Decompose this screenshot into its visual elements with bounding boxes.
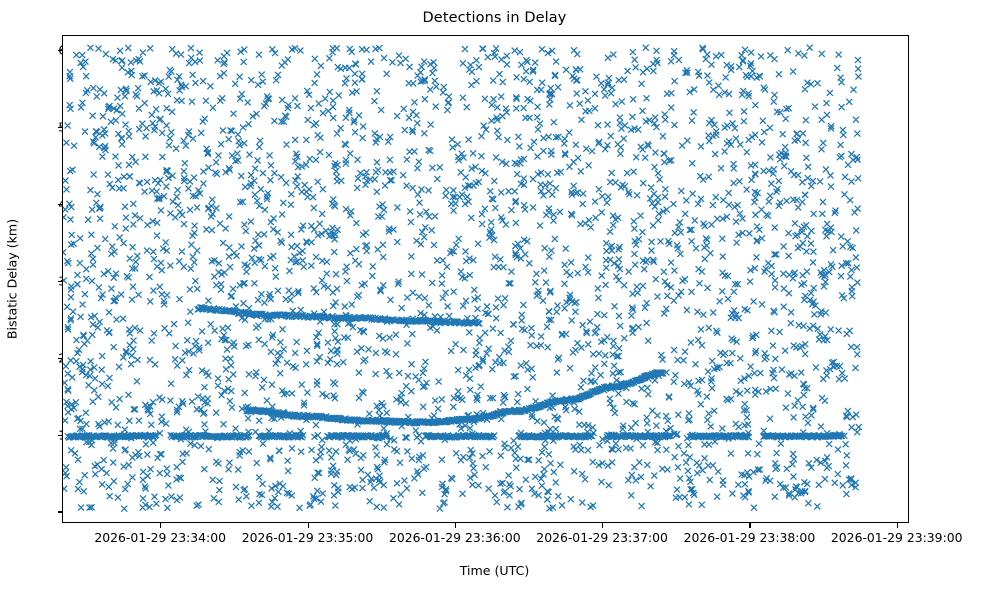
y-axis-tick-mark: [58, 435, 63, 436]
x-axis-tick-mark: [749, 523, 750, 528]
matplotlib-figure: Detections in Delay Bistatic Delay (km) …: [0, 0, 989, 590]
y-axis-tick-mark: [58, 204, 63, 205]
x-axis-tick-mark: [308, 523, 309, 528]
chart-title: Detections in Delay: [0, 10, 989, 26]
plot-area: [62, 35, 909, 523]
x-axis-tick-label: 2026-01-29 23:36:00: [389, 530, 521, 545]
x-axis-tick-label: 2026-01-29 23:34:00: [94, 530, 226, 545]
x-axis-label: Time (UTC): [0, 563, 989, 578]
x-axis-tick-label: 2026-01-29 23:38:00: [684, 530, 816, 545]
scatter-marker-path: [63, 45, 862, 512]
y-axis-tick-mark: [58, 50, 63, 51]
y-axis-tick-mark: [58, 127, 63, 128]
x-axis-tick-label: 2026-01-29 23:35:00: [242, 530, 374, 545]
x-axis-tick-mark: [602, 523, 603, 528]
x-axis-tick-mark: [897, 523, 898, 528]
y-axis-tick-mark: [58, 281, 63, 282]
x-axis-tick-label: 2026-01-29 23:37:00: [536, 530, 668, 545]
x-axis-tick-label: 2026-01-29 23:39:00: [831, 530, 963, 545]
x-axis-tick-mark: [455, 523, 456, 528]
y-axis-label-container: Bistatic Delay (km): [24, 0, 25, 590]
x-axis-tick-mark: [160, 523, 161, 528]
scatter-markers: [63, 36, 908, 522]
y-axis-tick-mark: [58, 511, 63, 512]
y-axis-tick-mark: [58, 358, 63, 359]
